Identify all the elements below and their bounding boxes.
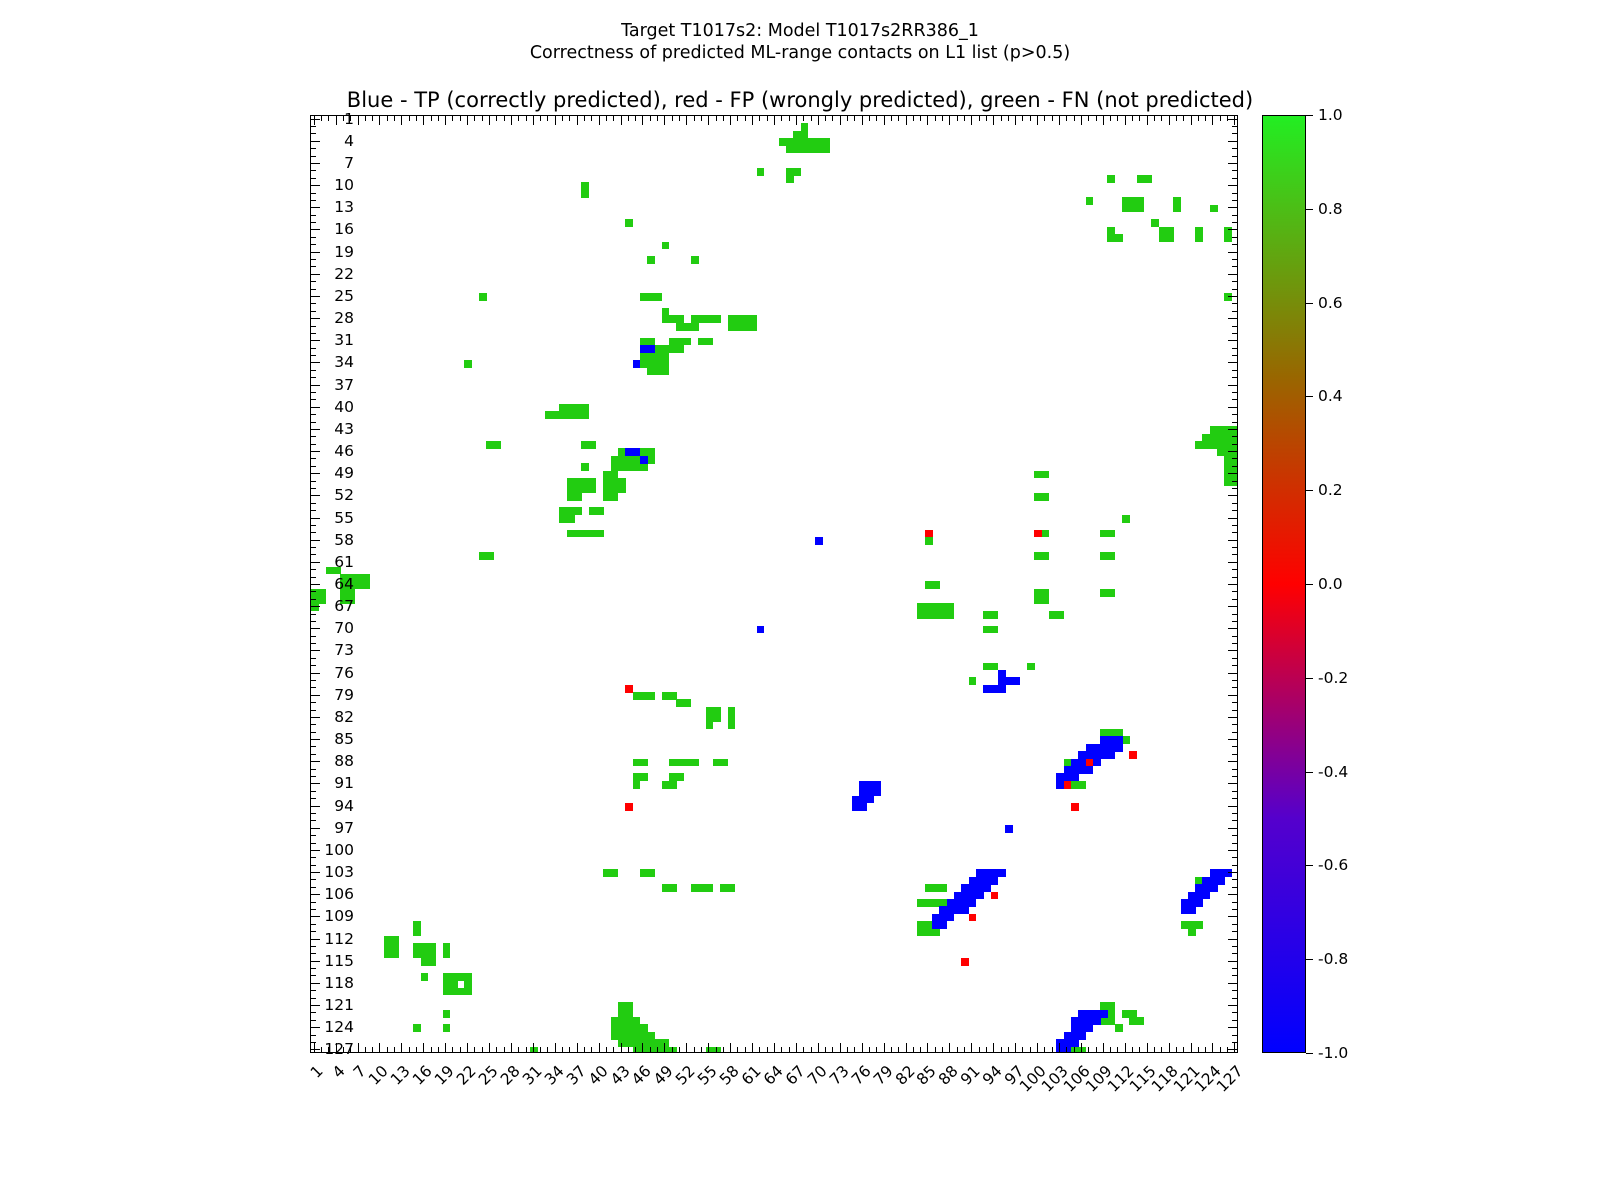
y-axis-tick — [1232, 577, 1237, 578]
x-axis-tick — [321, 1047, 322, 1052]
y-axis-tick — [1232, 244, 1237, 245]
x-axis-tick — [1022, 1047, 1023, 1052]
y-axis-tick — [1232, 237, 1237, 238]
y-axis-tick — [311, 791, 316, 792]
y-axis-tick — [1232, 636, 1237, 637]
x-axis-tick — [906, 116, 907, 125]
y-axis-tick — [311, 259, 316, 260]
y-axis-tick — [1228, 806, 1237, 807]
contact-cell — [574, 493, 582, 501]
y-axis-tick — [311, 392, 316, 393]
y-axis-tick — [1232, 924, 1237, 925]
x-axis-tick — [314, 1043, 315, 1052]
y-axis-tick — [1232, 525, 1237, 526]
contact-cell — [1071, 803, 1079, 811]
y-axis-tick — [311, 532, 316, 533]
y-axis-tick — [311, 835, 316, 836]
x-axis-tick — [708, 116, 709, 125]
x-axis-tick — [796, 1043, 797, 1052]
x-axis-tick — [613, 1047, 614, 1052]
x-axis-tick — [1110, 1047, 1111, 1052]
x-axis-tick — [555, 1043, 556, 1052]
y-axis-tick — [1228, 650, 1237, 651]
x-axis-tick — [387, 1047, 388, 1052]
y-axis-tick — [311, 606, 320, 607]
y-axis-tick-label: 58 — [334, 531, 354, 549]
contact-cell — [1064, 1047, 1072, 1052]
y-axis-tick — [1232, 399, 1237, 400]
x-axis-tick — [1044, 116, 1045, 121]
y-axis-tick — [311, 865, 316, 866]
contact-cell — [640, 773, 648, 781]
contact-cell — [1086, 766, 1094, 774]
contact-cell — [633, 781, 641, 789]
colorbar-tick — [1306, 678, 1313, 679]
x-axis-tick — [957, 116, 958, 121]
x-axis-tick — [679, 1047, 680, 1052]
y-axis-tick — [311, 429, 320, 430]
x-axis-tick — [511, 1043, 512, 1052]
y-axis-tick — [311, 481, 316, 482]
x-axis-tick — [759, 1047, 760, 1052]
y-axis-tick — [1228, 473, 1237, 474]
x-axis-tick — [372, 1047, 373, 1052]
x-axis-tick — [1205, 116, 1206, 121]
y-axis-tick — [1232, 466, 1237, 467]
x-axis-tick — [635, 1047, 636, 1052]
x-axis-tick — [1059, 1043, 1060, 1052]
y-axis-tick-label: 118 — [324, 974, 354, 992]
contact-cell — [625, 685, 633, 693]
y-axis-tick — [311, 289, 316, 290]
y-axis-tick — [1228, 207, 1237, 208]
y-axis-tick — [1228, 407, 1237, 408]
y-axis-tick — [1228, 495, 1237, 496]
x-axis-tick — [686, 116, 687, 125]
y-axis-tick — [311, 643, 316, 644]
y-axis-tick — [1232, 968, 1237, 969]
y-axis-tick — [1228, 894, 1237, 895]
y-axis-tick — [1232, 266, 1237, 267]
contact-cell — [1188, 928, 1196, 936]
x-axis-tick — [832, 1047, 833, 1052]
x-axis-tick — [1074, 116, 1075, 121]
y-axis-tick — [1232, 599, 1237, 600]
y-axis-tick — [1232, 392, 1237, 393]
x-axis-tick — [708, 1043, 709, 1052]
contact-cell — [1115, 1024, 1123, 1032]
y-axis-tick — [1228, 828, 1237, 829]
x-axis-tick — [423, 1043, 424, 1052]
contact-cell — [1078, 1047, 1086, 1052]
contact-cell — [1210, 205, 1218, 213]
y-axis-tick — [1228, 606, 1237, 607]
y-axis-tick — [311, 229, 320, 230]
y-axis-tick — [1232, 776, 1237, 777]
y-axis-tick — [311, 1035, 316, 1036]
x-axis-tick — [606, 1047, 607, 1052]
y-axis-tick — [1228, 872, 1237, 873]
y-axis-tick — [1232, 436, 1237, 437]
y-axis-tick-label: 7 — [344, 154, 354, 172]
y-axis-tick — [311, 946, 316, 947]
x-axis-tick — [1176, 1047, 1177, 1052]
y-axis-tick-label: 73 — [334, 641, 354, 659]
contact-cell — [1107, 552, 1115, 560]
contact-cell — [691, 323, 699, 331]
contact-cell — [1224, 869, 1232, 877]
x-axis-tick — [781, 116, 782, 121]
x-axis-tick — [489, 1043, 490, 1052]
y-axis-tick-label: 52 — [334, 486, 354, 504]
contact-cell — [1188, 906, 1196, 914]
contact-cell — [961, 958, 969, 966]
y-axis-tick — [311, 857, 316, 858]
y-axis-tick — [311, 761, 320, 762]
x-axis-tick — [854, 116, 855, 121]
contact-cell — [1195, 899, 1203, 907]
x-axis-tick — [1022, 116, 1023, 121]
contact-cell — [991, 611, 999, 619]
x-axis-tick — [474, 116, 475, 121]
x-axis-tick — [854, 1047, 855, 1052]
contact-cell — [662, 242, 670, 250]
contact-cell — [691, 759, 699, 767]
y-axis-tick-label: 31 — [334, 331, 354, 349]
y-axis-tick — [1232, 621, 1237, 622]
y-axis-tick — [1232, 798, 1237, 799]
y-axis-tick — [311, 1020, 316, 1021]
y-axis-tick — [1232, 326, 1237, 327]
y-axis-tick — [311, 569, 316, 570]
x-axis-tick — [964, 116, 965, 121]
x-axis-tick — [1081, 1043, 1082, 1052]
y-axis-tick — [311, 518, 320, 519]
contact-cell — [625, 219, 633, 227]
x-axis-tick — [927, 1043, 928, 1052]
contact-cell — [815, 537, 823, 545]
contact-cell — [676, 773, 684, 781]
x-axis-tick — [387, 116, 388, 121]
x-axis-tick — [1139, 1047, 1140, 1052]
contact-cell — [443, 1010, 451, 1018]
x-axis-tick — [1001, 1047, 1002, 1052]
y-axis-tick — [311, 163, 320, 164]
contact-cell — [611, 869, 619, 877]
x-axis-tick — [540, 1047, 541, 1052]
y-axis-tick — [1232, 370, 1237, 371]
y-axis-tick — [311, 599, 316, 600]
contact-map-plot-area[interactable] — [310, 115, 1238, 1053]
contact-cell — [486, 552, 494, 560]
x-axis-tick — [401, 1043, 402, 1052]
x-axis-tick — [1161, 1047, 1162, 1052]
x-axis-tick — [949, 116, 950, 125]
x-axis-tick — [672, 116, 673, 121]
x-axis-tick — [431, 1047, 432, 1052]
x-axis-tick — [789, 116, 790, 121]
x-axis-tick — [891, 116, 892, 121]
x-axis-tick — [811, 1047, 812, 1052]
y-axis-tick — [311, 473, 320, 474]
y-axis-tick — [1228, 1049, 1237, 1050]
contact-cell — [1122, 736, 1130, 744]
x-axis-tick — [445, 116, 446, 125]
y-axis-tick — [311, 983, 320, 984]
x-axis-tick — [379, 1043, 380, 1052]
x-axis-tick — [745, 116, 746, 121]
x-axis-tick — [321, 116, 322, 121]
figure-root: Target T1017s2: Model T1017s2RR386_1 Cor… — [0, 0, 1600, 1200]
y-axis-tick — [1228, 983, 1237, 984]
y-axis-tick — [1232, 259, 1237, 260]
x-axis-tick — [642, 1043, 643, 1052]
x-axis-tick — [1001, 116, 1002, 121]
contact-cell — [1195, 234, 1203, 242]
x-axis-tick — [701, 1047, 702, 1052]
y-axis-tick — [1232, 687, 1237, 688]
y-axis-tick — [311, 614, 316, 615]
x-axis-tick — [460, 1047, 461, 1052]
y-axis-tick — [311, 591, 316, 592]
x-axis-tick — [1212, 116, 1213, 125]
contact-cell — [1137, 205, 1145, 213]
y-axis-tick — [1232, 554, 1237, 555]
contact-cell — [706, 338, 714, 346]
contact-cell — [581, 411, 589, 419]
y-axis-tick — [311, 237, 316, 238]
colorbar-tick-label: -0.6 — [1318, 856, 1348, 874]
y-axis-tick-label: 121 — [324, 996, 354, 1014]
colorbar-tick-label: 0.0 — [1318, 575, 1343, 593]
y-axis-tick — [1232, 835, 1237, 836]
x-axis-tick — [1183, 1047, 1184, 1052]
y-axis-tick — [1228, 1027, 1237, 1028]
x-axis-tick — [621, 1043, 622, 1052]
colorbar-tick-label: 0.2 — [1318, 481, 1343, 499]
colorbar-tick — [1306, 772, 1313, 773]
x-axis-tick — [1008, 116, 1009, 121]
x-axis-tick — [584, 116, 585, 121]
contact-cell — [413, 928, 421, 936]
contact-cell — [1071, 1039, 1079, 1047]
colorbar-tick-label: -0.2 — [1318, 669, 1348, 687]
contact-cell — [1224, 234, 1232, 242]
y-axis-tick-label: 46 — [334, 442, 354, 460]
contact-cell — [969, 899, 977, 907]
x-axis-tick — [906, 1043, 907, 1052]
x-axis-tick — [628, 1047, 629, 1052]
x-axis-tick — [1117, 116, 1118, 121]
contact-cell — [596, 507, 604, 515]
x-axis-tick — [993, 116, 994, 125]
contact-cell — [1042, 530, 1050, 538]
contact-cell — [939, 921, 947, 929]
y-axis-tick — [311, 717, 320, 718]
x-axis-tick — [409, 116, 410, 121]
y-axis-tick — [311, 503, 316, 504]
y-axis-tick — [1232, 746, 1237, 747]
y-axis-tick — [311, 584, 320, 585]
x-axis-tick — [438, 116, 439, 121]
x-axis-tick — [913, 116, 914, 121]
colorbar[interactable] — [1262, 115, 1306, 1053]
x-axis-tick — [1103, 116, 1104, 125]
contact-cell — [925, 530, 933, 538]
colorbar-tick — [1306, 1053, 1313, 1054]
y-axis-tick — [311, 451, 320, 452]
x-axis-tick — [394, 1047, 395, 1052]
y-axis-tick-label: 79 — [334, 686, 354, 704]
contact-cell — [757, 168, 765, 176]
x-axis-tick — [942, 116, 943, 121]
contact-cell — [1027, 663, 1035, 671]
contact-cell — [976, 892, 984, 900]
x-axis-tick — [1198, 116, 1199, 121]
contact-cell — [1107, 175, 1115, 183]
y-axis-tick — [311, 311, 316, 312]
x-axis-tick — [613, 116, 614, 121]
y-axis-tick — [1228, 673, 1237, 674]
y-axis-tick — [311, 961, 320, 962]
y-axis-tick — [1232, 820, 1237, 821]
y-axis-tick — [311, 975, 316, 976]
y-axis-tick — [1232, 591, 1237, 592]
x-axis-tick — [1169, 1043, 1170, 1052]
y-axis-tick — [311, 916, 320, 917]
y-axis-tick — [1232, 953, 1237, 954]
x-axis-tick — [803, 116, 804, 121]
y-axis-tick — [1232, 702, 1237, 703]
x-axis-tick — [547, 1047, 548, 1052]
contact-cell — [720, 759, 728, 767]
contact-cell — [1232, 478, 1237, 486]
contact-cell — [998, 869, 1006, 877]
contact-cell — [939, 884, 947, 892]
y-axis-tick — [311, 806, 320, 807]
y-axis-tick — [311, 488, 316, 489]
y-axis-tick — [1232, 156, 1237, 157]
x-axis-tick — [862, 116, 863, 125]
y-axis-tick — [311, 200, 316, 201]
contact-cell — [311, 603, 319, 611]
x-axis-tick — [1037, 1043, 1038, 1052]
y-axis-tick — [1232, 990, 1237, 991]
x-axis-tick — [1183, 116, 1184, 121]
y-axis-tick — [311, 939, 320, 940]
x-axis-tick — [971, 116, 972, 125]
contact-cell — [633, 360, 641, 368]
x-axis-tick — [584, 1047, 585, 1052]
y-axis-tick — [311, 510, 316, 511]
y-axis-tick — [311, 820, 316, 821]
x-axis-tick — [847, 1047, 848, 1052]
y-axis-tick — [311, 887, 316, 888]
x-axis-tick — [650, 1047, 651, 1052]
contact-cell — [479, 293, 487, 301]
x-axis-tick — [1117, 1047, 1118, 1052]
x-axis-tick — [445, 1043, 446, 1052]
colorbar-tick-label: -0.8 — [1318, 950, 1348, 968]
y-axis-tick — [1228, 362, 1237, 363]
y-axis-tick-label: 49 — [334, 464, 354, 482]
y-axis-tick — [311, 422, 316, 423]
x-axis-tick — [964, 1047, 965, 1052]
y-axis-tick — [311, 724, 316, 725]
y-axis-tick — [1232, 879, 1237, 880]
contact-cell — [647, 256, 655, 264]
y-axis-tick — [311, 879, 316, 880]
x-axis-tick — [365, 116, 366, 121]
x-axis-tick — [1110, 116, 1111, 121]
colorbar-tick-label: -0.4 — [1318, 763, 1348, 781]
contact-cell — [640, 456, 648, 464]
contact-cell — [589, 441, 597, 449]
y-axis-tick — [311, 222, 316, 223]
contact-cell — [318, 596, 326, 604]
x-axis-tick — [832, 116, 833, 121]
y-axis-tick — [1228, 229, 1237, 230]
y-axis-tick — [311, 872, 320, 873]
x-axis-tick — [862, 1043, 863, 1052]
y-axis-tick — [311, 843, 316, 844]
x-axis-tick — [562, 1047, 563, 1052]
contact-cell — [1086, 197, 1094, 205]
y-axis-tick — [311, 828, 320, 829]
y-axis-tick — [311, 577, 316, 578]
x-axis-tick — [884, 116, 885, 125]
y-axis-tick — [1232, 658, 1237, 659]
contact-cell — [925, 537, 933, 545]
y-axis-tick — [1232, 724, 1237, 725]
y-axis-tick — [311, 407, 320, 408]
x-axis-tick — [518, 116, 519, 121]
contact-cell — [749, 323, 757, 331]
y-axis-tick-label: 88 — [334, 752, 354, 770]
contact-cell — [362, 581, 370, 589]
y-axis-tick — [311, 495, 320, 496]
x-axis-tick — [562, 116, 563, 121]
colorbar-tick — [1306, 584, 1313, 585]
contact-cell — [757, 626, 765, 634]
y-axis-tick — [311, 458, 316, 459]
x-axis-tick — [847, 116, 848, 121]
x-axis-tick — [577, 116, 578, 125]
contact-cell — [998, 685, 1006, 693]
y-axis-tick — [311, 281, 316, 282]
x-axis-tick — [621, 116, 622, 125]
y-axis-tick — [1232, 843, 1237, 844]
x-axis-tick — [1220, 1047, 1221, 1052]
y-axis-tick — [1228, 584, 1237, 585]
y-axis-tick — [311, 185, 320, 186]
y-axis-tick — [311, 658, 316, 659]
y-axis-tick — [311, 348, 316, 349]
x-axis-tick — [1191, 1043, 1192, 1052]
y-axis-tick — [1232, 887, 1237, 888]
x-axis-tick — [774, 1043, 775, 1052]
y-axis-tick — [1232, 769, 1237, 770]
colorbar-tick — [1306, 209, 1313, 210]
y-axis-tick — [311, 673, 320, 674]
x-axis-tick — [1212, 1043, 1213, 1052]
x-axis-tick — [336, 116, 337, 125]
x-axis-tick — [1088, 116, 1089, 121]
y-axis-tick-label: 22 — [334, 265, 354, 283]
x-axis-tick — [1096, 1047, 1097, 1052]
contact-cell — [654, 293, 662, 301]
x-axis-tick — [555, 116, 556, 125]
